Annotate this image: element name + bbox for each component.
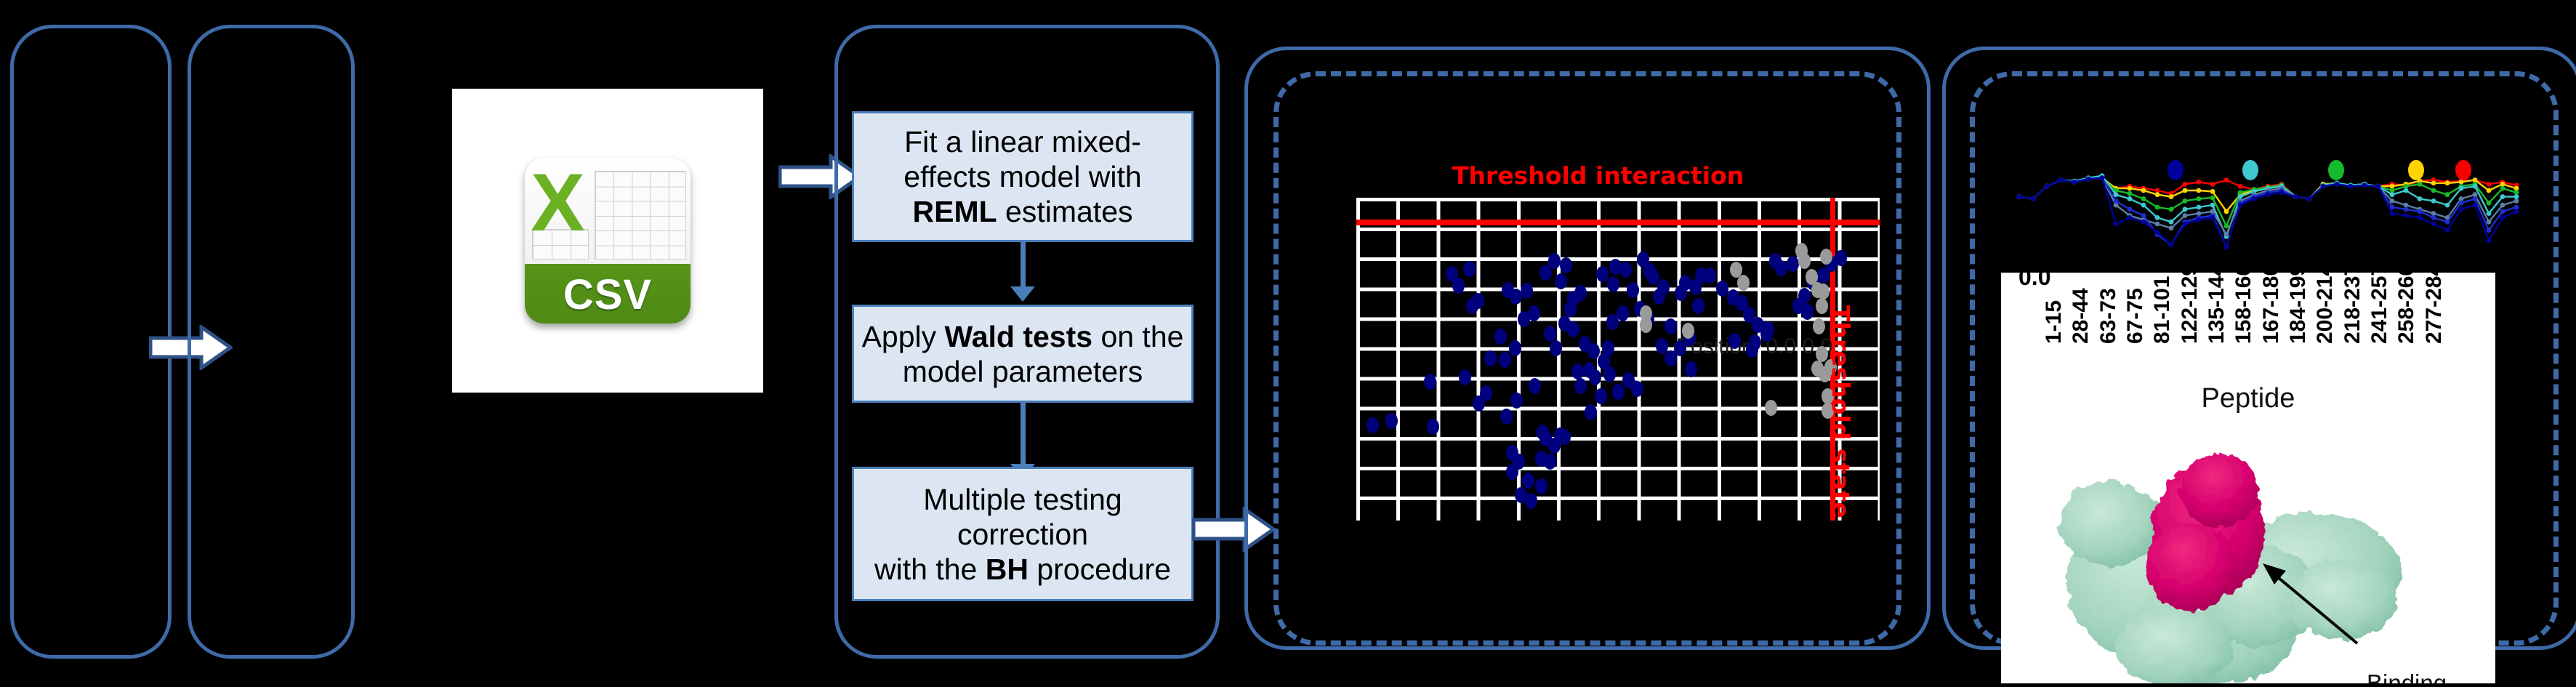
- point-series-navy-26: [2376, 184, 2381, 189]
- point-series-navy-13: [2197, 217, 2202, 222]
- point-series-navy-15: [2224, 244, 2229, 249]
- point-series-navy-4: [2072, 180, 2077, 185]
- threshold-interaction-line: [1356, 220, 1880, 225]
- excel-x-glyph: X: [531, 162, 585, 244]
- point-series-red-16: [2238, 184, 2243, 189]
- binding-interface-label: Binding interface: [2367, 669, 2459, 683]
- point-series-green-15: [2224, 224, 2229, 229]
- point-series-cyan-16: [2238, 194, 2243, 199]
- point-series-cyan-9: [2141, 203, 2146, 208]
- point-series-yellow-27: [2390, 184, 2395, 189]
- point-series-yellow-15: [2224, 209, 2229, 214]
- point-series-navy-5: [2086, 177, 2091, 182]
- x-tick-4: 81-101: [2150, 322, 2175, 344]
- x-tick-0: 1-15: [2042, 322, 2066, 344]
- point-series-red-15: [2224, 177, 2229, 182]
- point-series-navy-29: [2418, 215, 2423, 220]
- csv-grid-main: [595, 171, 686, 260]
- arrow-reml-to-wald-head: [1010, 286, 1035, 302]
- point-series-cyan-27: [2390, 192, 2395, 197]
- process-box-wald-label: Apply Wald tests on the model parameters: [861, 319, 1184, 389]
- point-series-navy-33: [2473, 203, 2478, 208]
- point-series-cyan-34: [2487, 211, 2492, 216]
- point-series-navy-9: [2141, 220, 2146, 225]
- point-series-green-34: [2487, 201, 2492, 206]
- point-series-red-14: [2210, 182, 2215, 187]
- csv-file-card: X CSV: [452, 89, 763, 393]
- point-series-yellow-10: [2155, 192, 2160, 197]
- point-series-steel-30: [2431, 211, 2436, 216]
- point-series-navy-19: [2279, 190, 2285, 195]
- threshold-interaction-label: Threshold interaction: [1452, 161, 1744, 190]
- point-series-navy-14: [2210, 215, 2215, 220]
- point-series-yellow-13: [2197, 188, 2202, 193]
- point-series-blue-35: [2500, 209, 2505, 214]
- point-series-steel-28: [2404, 203, 2409, 208]
- point-series-cyan-13: [2197, 205, 2202, 210]
- point-series-cyan-36: [2514, 194, 2519, 199]
- point-series-yellow-32: [2459, 180, 2464, 185]
- point-series-blue-30: [2431, 215, 2436, 220]
- point-series-cyan-14: [2210, 203, 2215, 208]
- point-series-navy-0: [2017, 194, 2022, 199]
- binding-interface-line1: Binding: [2367, 670, 2447, 683]
- x-tick-9: 184-199: [2286, 322, 2311, 344]
- x-tick-11: 218-237: [2340, 322, 2365, 344]
- point-series-steel-35: [2500, 203, 2505, 208]
- point-series-navy-31: [2445, 228, 2450, 233]
- point-series-navy-11: [2169, 242, 2174, 247]
- point-series-navy-21: [2307, 196, 2312, 201]
- x-axis-tick-labels: 1-1528-4463-7367-7581-101122-129135-1441…: [2043, 283, 2450, 392]
- point-series-steel-27: [2390, 198, 2395, 204]
- point-series-yellow-35: [2500, 182, 2505, 187]
- point-series-yellow-9: [2141, 188, 2146, 193]
- point-series-blue-34: [2487, 228, 2492, 233]
- point-series-blue-33: [2473, 196, 2478, 201]
- point-series-steel-33: [2473, 192, 2478, 197]
- x-tick-5: 122-129: [2178, 322, 2202, 344]
- connector-wald-to-bh-shaft: [1021, 403, 1026, 467]
- point-series-green-16: [2238, 190, 2243, 195]
- point-series-yellow-8: [2128, 186, 2133, 191]
- point-series-navy-18: [2266, 192, 2271, 197]
- point-series-cyan-28: [2404, 188, 2409, 193]
- point-series-steel-13: [2197, 211, 2202, 216]
- point-series-cyan-10: [2155, 215, 2160, 220]
- point-series-cyan-31: [2445, 203, 2450, 208]
- threshold-state-label: Threshold state: [1827, 305, 1855, 518]
- legend-dot-series-green: [2328, 160, 2344, 180]
- point-series-yellow-14: [2210, 189, 2215, 194]
- panel-csv-stage: [188, 25, 355, 659]
- point-series-steel-10: [2155, 222, 2160, 227]
- x-tick-13: 258-266: [2394, 322, 2419, 344]
- point-series-blue-29: [2418, 209, 2423, 214]
- legend-dot-series-cyan: [2242, 160, 2258, 180]
- panel-input-stage: [10, 25, 172, 659]
- peptide-axis-title: Peptide: [2001, 383, 2495, 414]
- point-series-green-14: [2210, 196, 2215, 201]
- point-series-navy-8: [2128, 215, 2133, 220]
- point-series-navy-25: [2362, 182, 2367, 188]
- point-series-cyan-30: [2431, 198, 2436, 204]
- point-series-navy-24: [2348, 184, 2354, 189]
- point-series-yellow-34: [2487, 188, 2492, 193]
- point-series-green-10: [2155, 205, 2160, 210]
- csv-file-icon: X CSV: [525, 158, 691, 324]
- point-series-cyan-35: [2500, 194, 2505, 199]
- point-series-navy-23: [2335, 182, 2340, 187]
- point-series-navy-12: [2183, 222, 2188, 227]
- point-series-navy-34: [2487, 238, 2492, 244]
- point-series-red-13: [2197, 180, 2202, 185]
- protein-surface-illustration: [2001, 414, 2495, 683]
- process-box-bh-label: Multiple testing correctionwith the BH p…: [861, 482, 1184, 587]
- x-tick-12: 241-257: [2367, 322, 2392, 344]
- point-series-navy-7: [2114, 222, 2119, 227]
- point-series-blue-9: [2141, 213, 2146, 218]
- point-series-green-35: [2500, 186, 2505, 191]
- x-tick-1: 28-44: [2069, 322, 2093, 344]
- flowchart-canvas: X CSV Fit a linear mixed-effects model w…: [0, 0, 2576, 687]
- point-series-navy-16: [2238, 203, 2243, 208]
- point-series-green-8: [2128, 191, 2133, 196]
- x-tick-14: 277-284: [2422, 322, 2447, 344]
- process-box-bh[interactable]: Multiple testing correctionwith the BH p…: [852, 467, 1194, 601]
- point-series-yellow-31: [2445, 181, 2450, 186]
- process-box-reml[interactable]: Fit a linear mixed-effects model with RE…: [852, 111, 1194, 242]
- process-box-wald[interactable]: Apply Wald tests on the model parameters: [852, 305, 1194, 403]
- x-tick-6: 135-144: [2205, 322, 2229, 344]
- point-series-blue-36: [2514, 205, 2519, 210]
- point-series-blue-31: [2445, 220, 2450, 225]
- point-series-cyan-33: [2473, 184, 2478, 189]
- point-series-green-12: [2183, 198, 2188, 204]
- point-series-navy-32: [2459, 207, 2464, 212]
- legend-dot-series-yellow: [2408, 160, 2424, 180]
- point-series-green-11: [2169, 207, 2174, 212]
- point-series-navy-20: [2293, 194, 2298, 199]
- x-tick-10: 200-214: [2313, 322, 2338, 344]
- connector-reml-to-wald-shaft: [1021, 242, 1026, 289]
- point-series-navy-30: [2431, 222, 2436, 227]
- point-series-green-36: [2514, 190, 2519, 195]
- point-series-navy-2: [2045, 184, 2050, 189]
- x-tick-3: 67-75: [2123, 322, 2148, 344]
- point-series-navy-22: [2321, 184, 2326, 189]
- point-series-navy-27: [2390, 211, 2395, 216]
- point-series-steel-36: [2514, 198, 2519, 204]
- point-series-navy-17: [2252, 196, 2257, 201]
- point-series-cyan-11: [2169, 220, 2174, 225]
- point-series-green-9: [2141, 196, 2146, 201]
- point-series-navy-10: [2155, 230, 2160, 235]
- point-series-green-28: [2404, 184, 2409, 189]
- point-series-yellow-11: [2169, 194, 2174, 199]
- peptide-line-chart-svg: [2013, 149, 2522, 265]
- point-series-cyan-29: [2418, 196, 2423, 201]
- point-series-navy-28: [2404, 213, 2409, 218]
- point-series-red-12: [2183, 182, 2188, 187]
- point-series-steel-15: [2224, 232, 2229, 237]
- point-series-steel-12: [2183, 213, 2188, 218]
- point-series-blue-7: [2114, 198, 2119, 204]
- peptide-line-chart: [2013, 149, 2522, 265]
- point-series-green-29: [2418, 182, 2423, 187]
- point-series-blue-8: [2128, 207, 2133, 212]
- peptide-structure-card: 0.0 1-1528-4463-7367-7581-101122-129135-…: [2001, 273, 2495, 683]
- point-series-cyan-8: [2128, 196, 2133, 201]
- threshold-scatter-plot: Position: 0.0 0.0: [1356, 198, 1880, 521]
- process-box-reml-label: Fit a linear mixed-effects model with RE…: [861, 124, 1184, 229]
- point-series-blue-28: [2404, 207, 2409, 212]
- point-series-navy-35: [2500, 215, 2505, 220]
- point-series-navy-1: [2031, 196, 2036, 201]
- x-tick-8: 167-180: [2259, 322, 2284, 344]
- csv-icon-label: CSV: [525, 270, 691, 319]
- point-series-navy-3: [2058, 177, 2064, 182]
- point-series-navy-6: [2100, 175, 2105, 180]
- x-tick-7: 158-166: [2231, 322, 2256, 344]
- point-series-green-30: [2431, 188, 2436, 193]
- point-series-steel-11: [2169, 225, 2174, 230]
- legend-dot-series-navy: [2168, 160, 2183, 180]
- x-tick-2: 63-73: [2096, 322, 2121, 344]
- point-series-green-13: [2197, 196, 2202, 201]
- point-series-yellow-12: [2183, 188, 2188, 193]
- legend-dot-series-red: [2455, 160, 2471, 180]
- point-series-cyan-7: [2114, 192, 2119, 197]
- point-series-cyan-32: [2459, 186, 2464, 191]
- point-series-navy-36: [2514, 209, 2519, 214]
- point-series-blue-32: [2459, 201, 2464, 206]
- point-series-yellow-30: [2431, 181, 2436, 186]
- point-series-steel-34: [2487, 220, 2492, 225]
- point-series-red-34: [2487, 182, 2492, 187]
- point-series-green-31: [2445, 192, 2450, 197]
- point-series-cyan-12: [2183, 207, 2188, 212]
